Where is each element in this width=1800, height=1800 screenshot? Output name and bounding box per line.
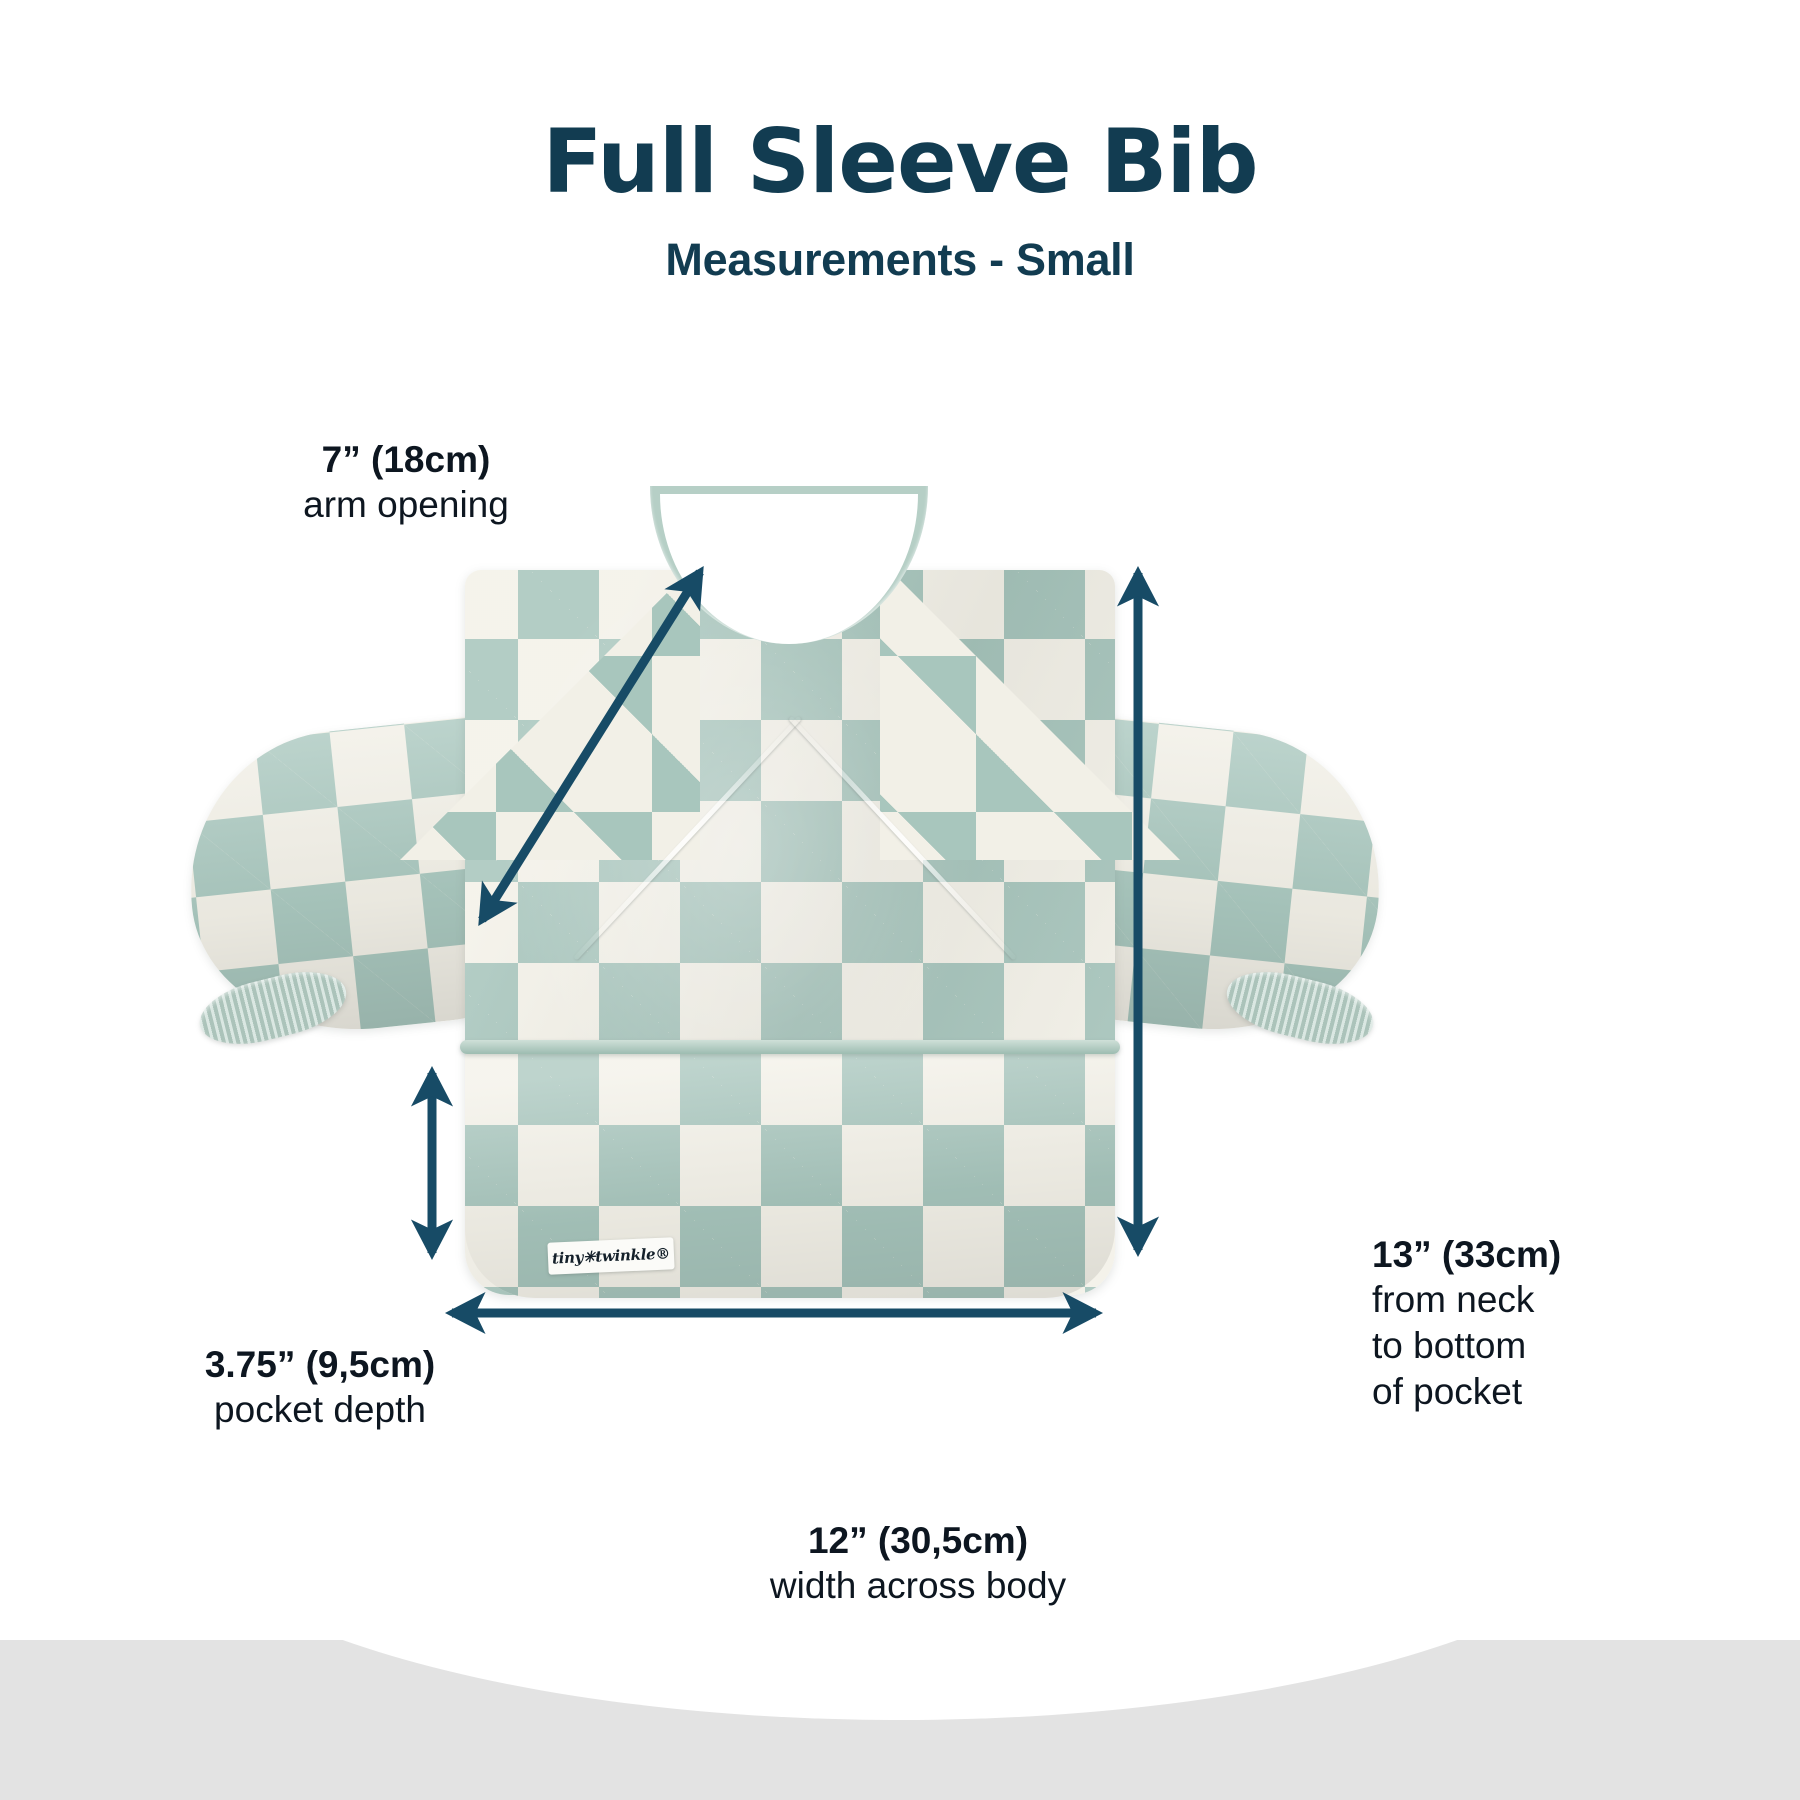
measurement-label-width-across-body: 12” (30,5cm) width across body: [618, 1518, 1218, 1609]
brand-tag: tiny✳twinkle®: [547, 1237, 674, 1274]
measurement-label-pocket-depth: 3.75” (9,5cm) pocket depth: [150, 1342, 490, 1433]
width-across-body-value: 12” (30,5cm): [618, 1518, 1218, 1563]
page-title: Full Sleeve Bib: [0, 116, 1800, 208]
bottom-decorative-band: [0, 1640, 1800, 1800]
arm-opening-description: arm opening: [236, 482, 576, 528]
neck-to-pocket-line-3: of pocket: [1372, 1369, 1712, 1415]
product-image-bib: tiny✳twinkle®: [170, 540, 1400, 1260]
pocket-depth-value: 3.75” (9,5cm): [150, 1342, 490, 1387]
measurement-label-arm-opening: 7” (18cm) arm opening: [236, 437, 576, 528]
pocket-depth-description: pocket depth: [150, 1387, 490, 1433]
neck-to-pocket-line-2: to bottom: [1372, 1323, 1712, 1369]
bottom-band-curve: [140, 1640, 1660, 1720]
arm-opening-value: 7” (18cm): [236, 437, 576, 482]
brand-tag-label: tiny✳twinkle®: [552, 1244, 671, 1267]
header: Full Sleeve Bib Measurements - Small: [0, 0, 1800, 286]
neck-to-pocket-line-1: from neck: [1372, 1277, 1712, 1323]
bib-pocket-hem: [460, 1040, 1120, 1054]
measurement-label-neck-to-pocket: 13” (33cm) from neck to bottom of pocket: [1372, 1232, 1712, 1415]
page-subtitle: Measurements - Small: [0, 234, 1800, 286]
width-across-body-description: width across body: [618, 1563, 1218, 1609]
neck-to-pocket-value: 13” (33cm): [1372, 1232, 1712, 1277]
